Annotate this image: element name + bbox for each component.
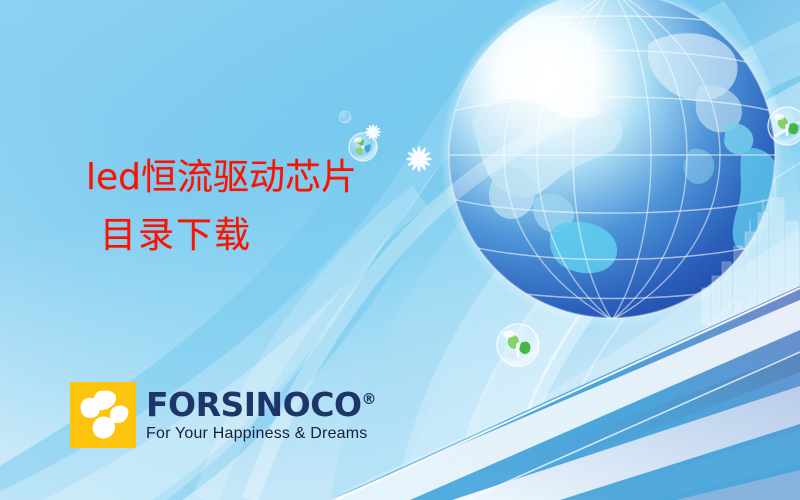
- bubble-windmill-mid: [497, 324, 539, 366]
- pinwheel-icon: [70, 382, 136, 448]
- logo-mark-pinwheel: [70, 382, 136, 448]
- company-logo[interactable]: FORSINOCO® For Your Happiness & Dreams: [70, 382, 376, 448]
- brand-name: FORSINOCO®: [146, 388, 376, 421]
- bubble-small-accent: [339, 111, 351, 123]
- bubble-windmill-right: [768, 107, 800, 145]
- logo-text-block: FORSINOCO® For Your Happiness & Dreams: [146, 388, 376, 442]
- headline-line-2: 目录下载: [100, 218, 357, 254]
- promo-banner: led恒流驱动芯片 目录下载 FORSINOCO® For Your Happi…: [0, 0, 800, 500]
- headline-text: led恒流驱动芯片 目录下载: [86, 160, 357, 254]
- registered-mark: ®: [362, 390, 377, 408]
- brand-word: FORSINOCO: [146, 385, 362, 424]
- brand-tagline: For Your Happiness & Dreams: [146, 426, 376, 442]
- headline-line-1: led恒流驱动芯片: [86, 160, 357, 196]
